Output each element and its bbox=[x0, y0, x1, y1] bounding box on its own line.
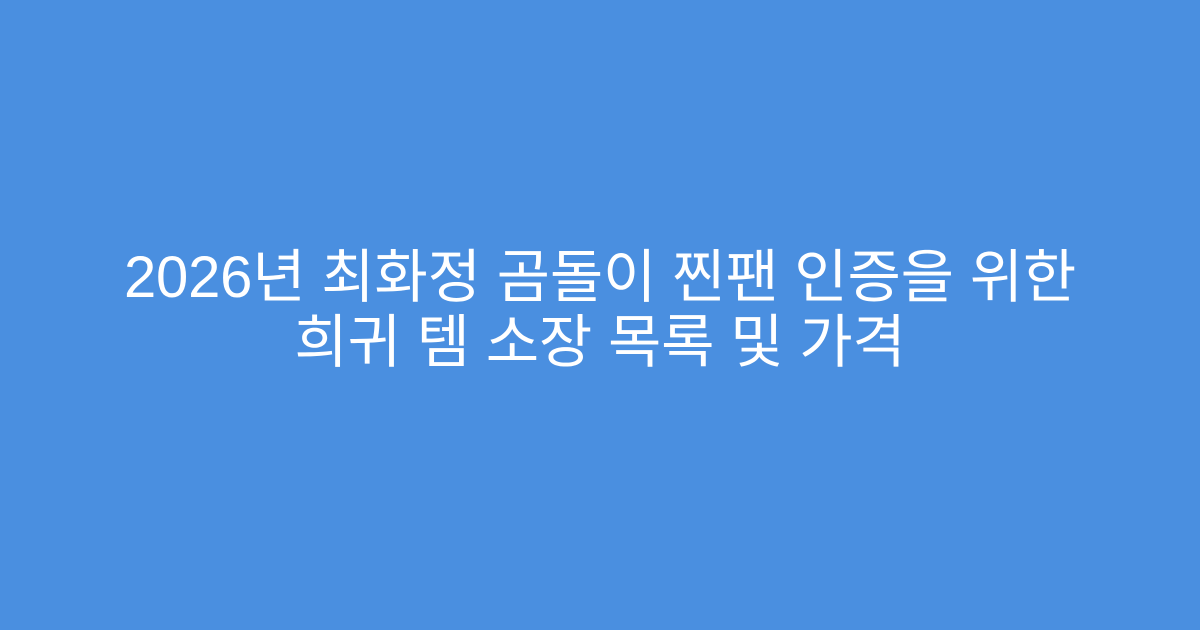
page-title: 2026년 최화정 곰돌이 찐팬 인증을 위한 희귀 템 소장 목록 및 가격 bbox=[88, 245, 1112, 375]
og-card-canvas: 2026년 최화정 곰돌이 찐팬 인증을 위한 희귀 템 소장 목록 및 가격 bbox=[0, 0, 1200, 630]
